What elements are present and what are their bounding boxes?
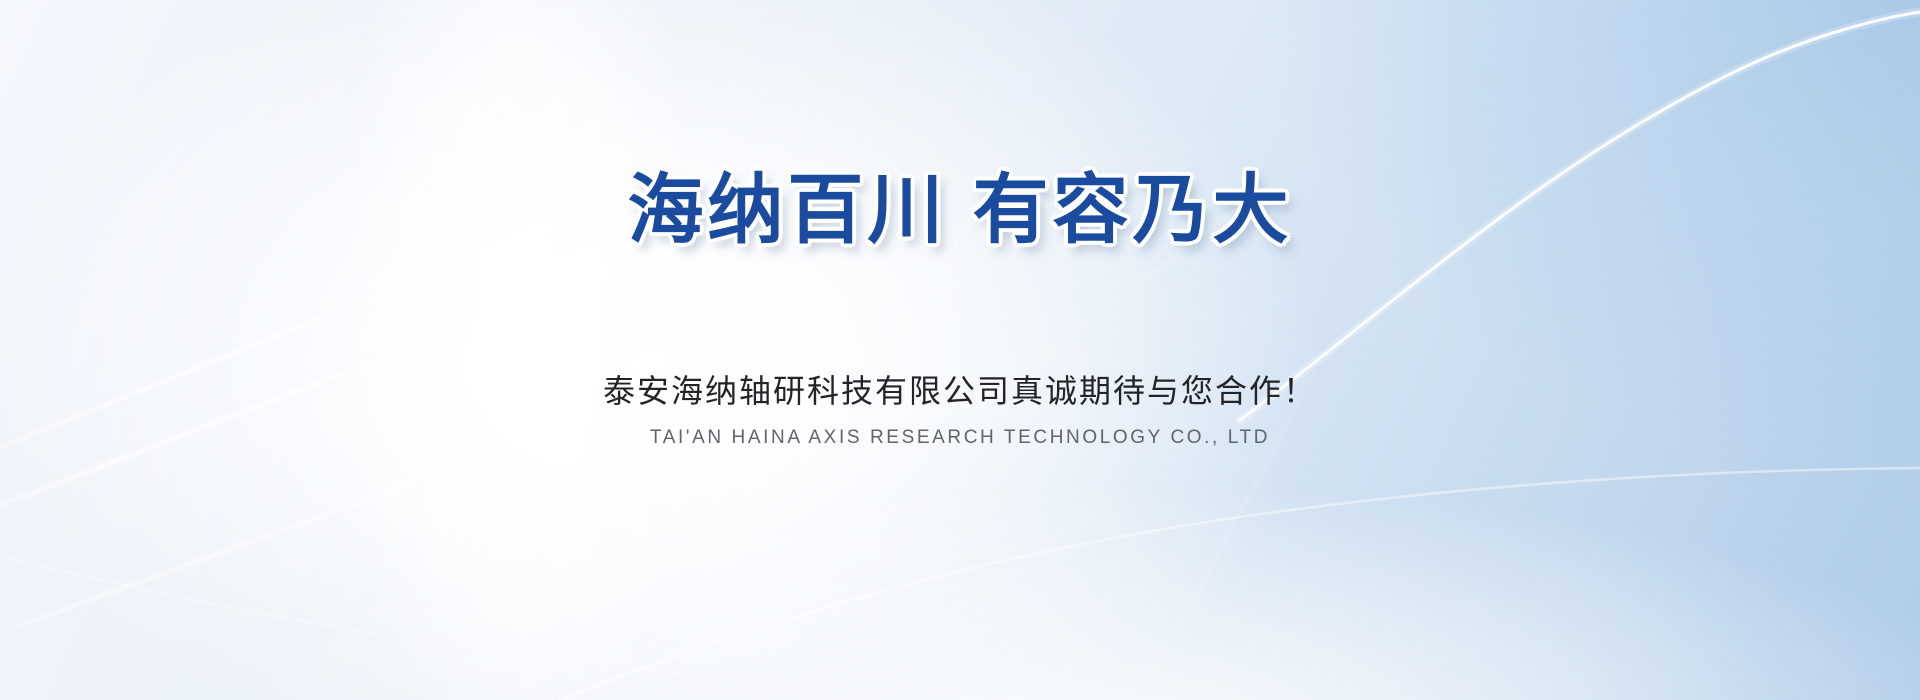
banner-subtitle-chinese: 泰安海纳轴研科技有限公司真诚期待与您合作！ [603,369,1317,414]
banner-subtitle-block: 泰安海纳轴研科技有限公司真诚期待与您合作！ TAI'AN HAINA AXIS … [603,369,1317,452]
hero-banner: 海纳百川 有容乃大 泰安海纳轴研科技有限公司真诚期待与您合作！ TAI'AN H… [0,0,1920,700]
banner-content: 海纳百川 有容乃大 泰安海纳轴研科技有限公司真诚期待与您合作！ TAI'AN H… [0,0,1920,700]
banner-headline: 海纳百川 有容乃大 [627,166,1292,256]
banner-subtitle-english: TAI'AN HAINA AXIS RESEARCH TECHNOLOGY CO… [650,425,1270,452]
